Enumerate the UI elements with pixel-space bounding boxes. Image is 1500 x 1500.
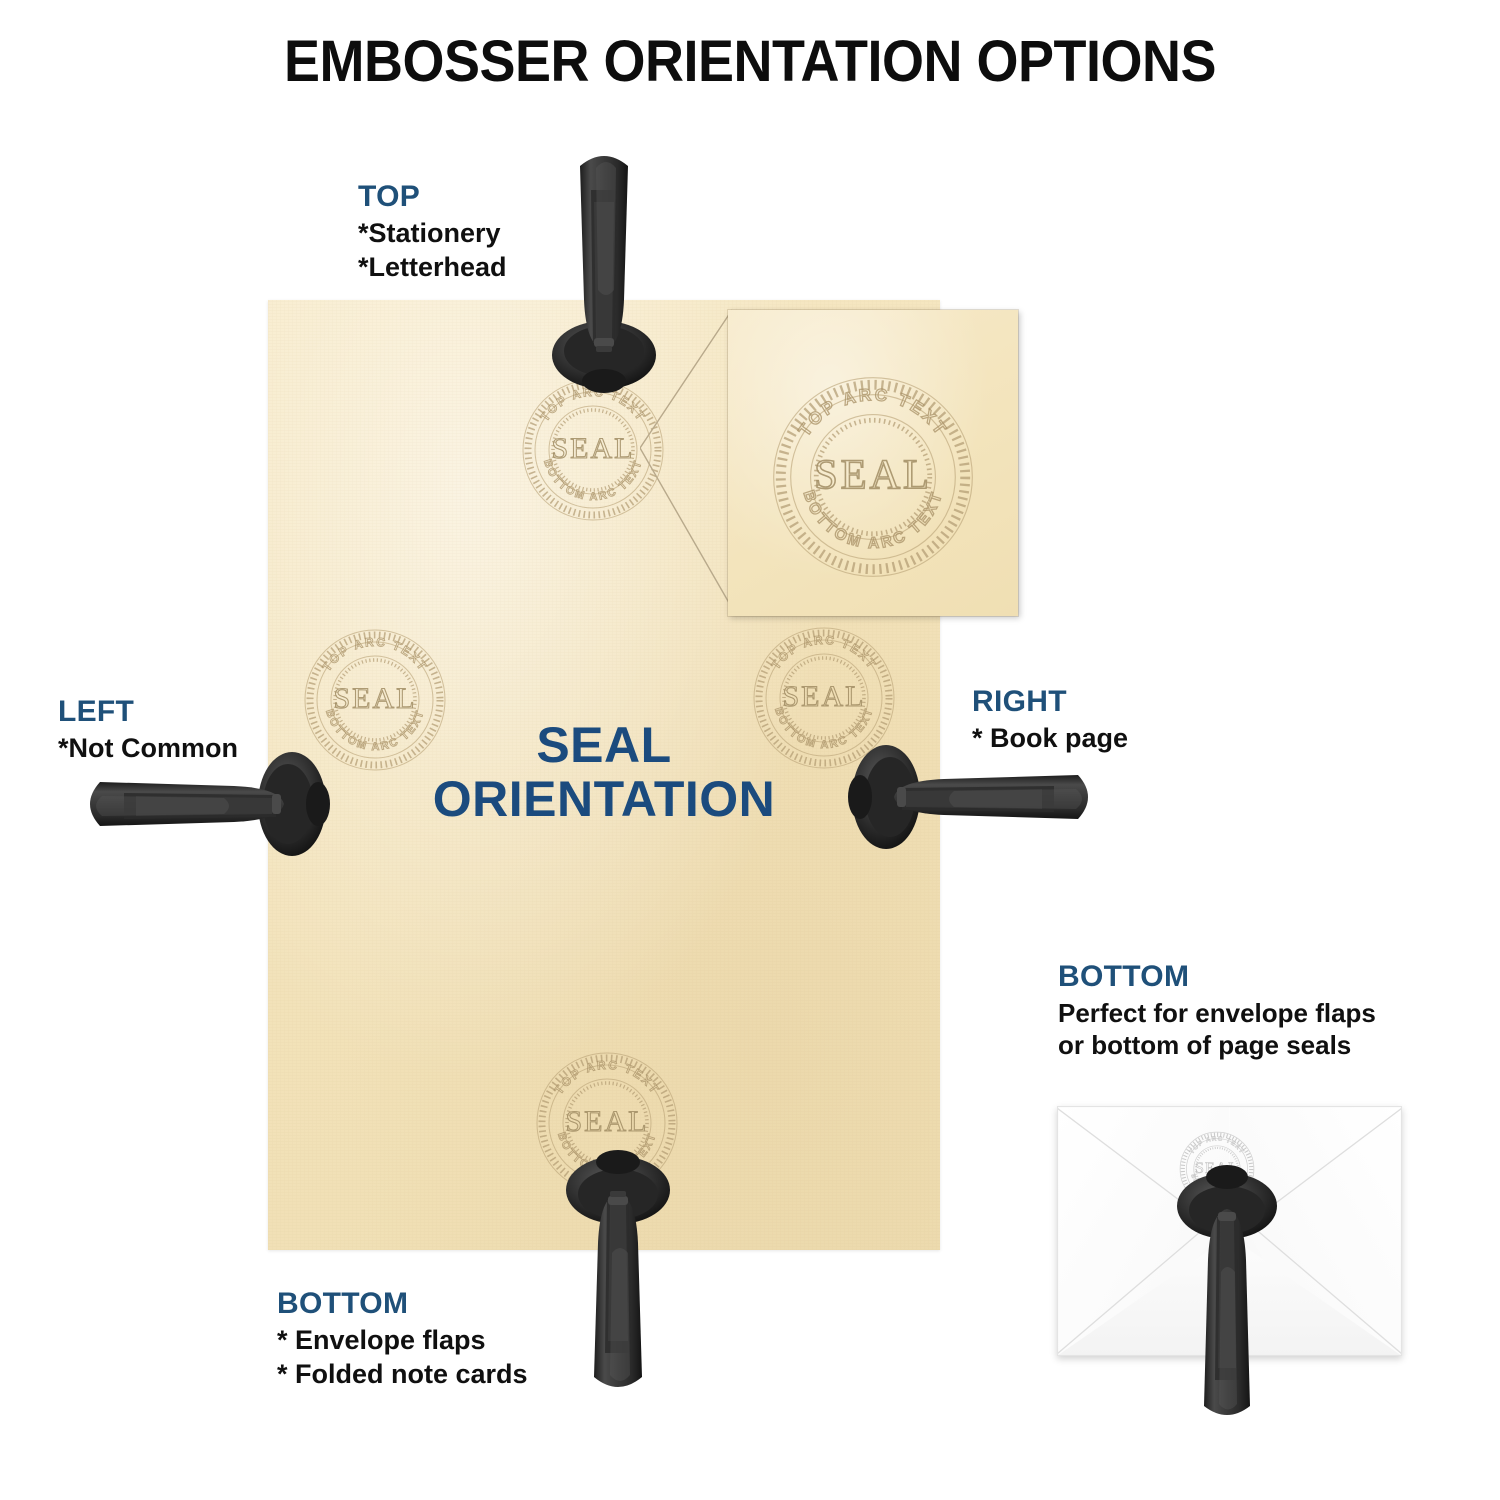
page-title: EMBOSSER ORIENTATION OPTIONS [53, 28, 1448, 95]
label-top-line-1: *Stationery [358, 217, 507, 250]
label-bottom-left: BOTTOM * Envelope flaps * Folded note ca… [277, 1285, 528, 1391]
seal-orientation-line1: SEAL [268, 718, 940, 772]
label-bottom-left-line-2: * Folded note cards [277, 1358, 528, 1391]
label-right: RIGHT * Book page [972, 683, 1128, 756]
infographic-canvas: EMBOSSER ORIENTATION OPTIONS TOP ARC TEX… [0, 0, 1500, 1500]
label-right-line-1: * Book page [972, 722, 1128, 755]
label-bottom-left-heading: BOTTOM [277, 1285, 528, 1322]
seal-orientation-line2: ORIENTATION [268, 772, 940, 826]
label-bottom-right-line-1: Perfect for envelope flaps [1058, 997, 1376, 1029]
seal-orientation-caption: SEAL ORIENTATION [268, 718, 940, 826]
embosser-tool-envelope[interactable] [1172, 1162, 1282, 1422]
label-bottom-right-heading: BOTTOM [1058, 958, 1376, 995]
label-left-heading: LEFT [58, 693, 238, 730]
label-left-line-1: *Not Common [58, 732, 238, 765]
label-right-heading: RIGHT [972, 683, 1128, 720]
label-bottom-right: BOTTOM Perfect for envelope flaps or bot… [1058, 958, 1376, 1062]
label-top-line-2: *Letterhead [358, 251, 507, 284]
label-left: LEFT *Not Common [58, 693, 238, 766]
magnified-seal-callout [728, 310, 1018, 616]
embosser-tool-right[interactable] [848, 745, 1096, 850]
label-bottom-right-line-2: or bottom of page seals [1058, 1029, 1376, 1061]
embosser-tool-left[interactable] [82, 752, 330, 857]
label-top: TOP *Stationery *Letterhead [358, 178, 507, 284]
embosser-tool-bottom[interactable] [558, 1148, 678, 1393]
embosser-tool-top[interactable] [544, 150, 664, 395]
label-top-heading: TOP [358, 178, 507, 215]
label-bottom-left-line-1: * Envelope flaps [277, 1324, 528, 1357]
